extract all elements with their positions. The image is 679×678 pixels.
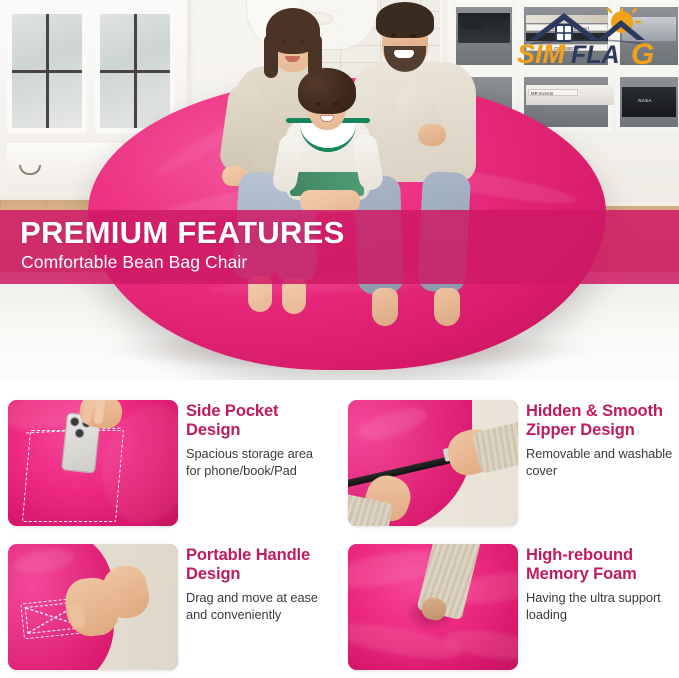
father-hair bbox=[376, 2, 434, 38]
child-eye bbox=[333, 102, 338, 105]
feature-text-handle: Portable Handle Design Drag and move at … bbox=[186, 546, 336, 623]
drawer-handle-icon bbox=[19, 165, 41, 175]
feature-title-line1: Hidden & Smooth bbox=[526, 402, 663, 420]
feature-desc-line2: and conveniently bbox=[186, 607, 281, 622]
banner-title: PREMIUM FEATURES bbox=[20, 216, 345, 250]
father-smile bbox=[394, 50, 414, 58]
feature-desc-line2: cover bbox=[526, 463, 557, 478]
door-mullion-horizontal bbox=[12, 70, 82, 73]
feature-desc-line2: loading bbox=[526, 607, 567, 622]
door-mullion-horizontal bbox=[100, 70, 170, 73]
camera-lens-icon bbox=[70, 417, 80, 427]
book-label-4: NASA bbox=[630, 97, 660, 105]
feature-title: Portable Handle Design bbox=[186, 546, 336, 584]
mother-hair-side bbox=[264, 34, 278, 78]
feature-desc-line1: Removable and washable bbox=[526, 446, 672, 461]
father-eye bbox=[411, 34, 416, 37]
feature-card-memory-foam: High-rebound Memory Foam Having the ultr… bbox=[340, 534, 679, 678]
feature-description: Drag and move at ease and conveniently bbox=[186, 590, 336, 623]
logo-text-sim: SIM bbox=[517, 39, 566, 66]
feature-desc-line2: for phone/book/Pad bbox=[186, 463, 297, 478]
feature-title-line2: Design bbox=[186, 421, 240, 439]
logo-text-g: G bbox=[631, 38, 654, 66]
feature-desc-line1: Drag and move at ease bbox=[186, 590, 318, 605]
feature-text-side-pocket: Side Pocket Design Spacious storage area… bbox=[186, 402, 336, 479]
father-foot bbox=[434, 288, 460, 326]
feature-title-line1: Side Pocket bbox=[186, 402, 278, 420]
father-eye bbox=[391, 34, 396, 37]
feature-card-zipper: Hidden & Smooth Zipper Design Removable … bbox=[340, 390, 679, 534]
features-section: Side Pocket Design Spacious storage area… bbox=[0, 382, 679, 670]
feature-title: High-rebound Memory Foam bbox=[526, 546, 676, 584]
feature-title-line1: High-rebound bbox=[526, 546, 633, 564]
feature-description: Removable and washable cover bbox=[526, 446, 676, 479]
feature-card-side-pocket: Side Pocket Design Spacious storage area… bbox=[0, 390, 339, 534]
logo-text-fla: FLA bbox=[571, 41, 620, 66]
feature-title-line2: Design bbox=[186, 565, 240, 583]
feature-title: Side Pocket Design bbox=[186, 402, 336, 440]
feature-card-handle: Portable Handle Design Drag and move at … bbox=[0, 534, 339, 678]
feature-title: Hidden & Smooth Zipper Design bbox=[526, 402, 676, 440]
feature-image-zipper bbox=[348, 400, 518, 526]
brand-logo: SIM FLA G bbox=[509, 8, 669, 66]
cabinet-door-left bbox=[7, 9, 87, 133]
feature-title-line1: Portable Handle bbox=[186, 546, 310, 564]
feature-image-handle bbox=[8, 544, 178, 670]
book-label-3: MR Events bbox=[528, 89, 578, 96]
child-hands bbox=[300, 190, 360, 212]
feature-desc-line1: Spacious storage area bbox=[186, 446, 313, 461]
cabinet-door-right bbox=[95, 9, 175, 133]
mother-eye bbox=[299, 40, 304, 43]
child-eye bbox=[316, 102, 321, 105]
child-hair bbox=[298, 68, 356, 114]
camera-lens-icon bbox=[75, 428, 85, 438]
shelf-decor-label bbox=[462, 21, 484, 29]
banner-subtitle: Comfortable Bean Bag Chair bbox=[21, 251, 247, 273]
feature-title-line2: Zipper Design bbox=[526, 421, 635, 439]
feature-desc-line1: Having the ultra support bbox=[526, 590, 661, 605]
feature-text-zipper: Hidden & Smooth Zipper Design Removable … bbox=[526, 402, 676, 479]
feature-image-memory-foam bbox=[348, 544, 518, 670]
feature-text-memory-foam: High-rebound Memory Foam Having the ultr… bbox=[526, 546, 676, 623]
premium-features-banner: PREMIUM FEATURES Comfortable Bean Bag Ch… bbox=[0, 210, 679, 284]
feature-image-side-pocket bbox=[8, 400, 178, 526]
features-grid: Side Pocket Design Spacious storage area… bbox=[0, 382, 679, 670]
mother-eye bbox=[281, 40, 286, 43]
father-hand bbox=[418, 124, 446, 146]
father-foot bbox=[372, 288, 398, 326]
feature-description: Having the ultra support loading bbox=[526, 590, 676, 623]
hero-banner-image: Delicious Masterchief CLOSSEINA MR Event… bbox=[0, 0, 679, 380]
feature-title-line2: Memory Foam bbox=[526, 565, 637, 583]
feature-description: Spacious storage area for phone/book/Pad bbox=[186, 446, 336, 479]
simflag-logo-svg: SIM FLA G bbox=[509, 8, 669, 66]
